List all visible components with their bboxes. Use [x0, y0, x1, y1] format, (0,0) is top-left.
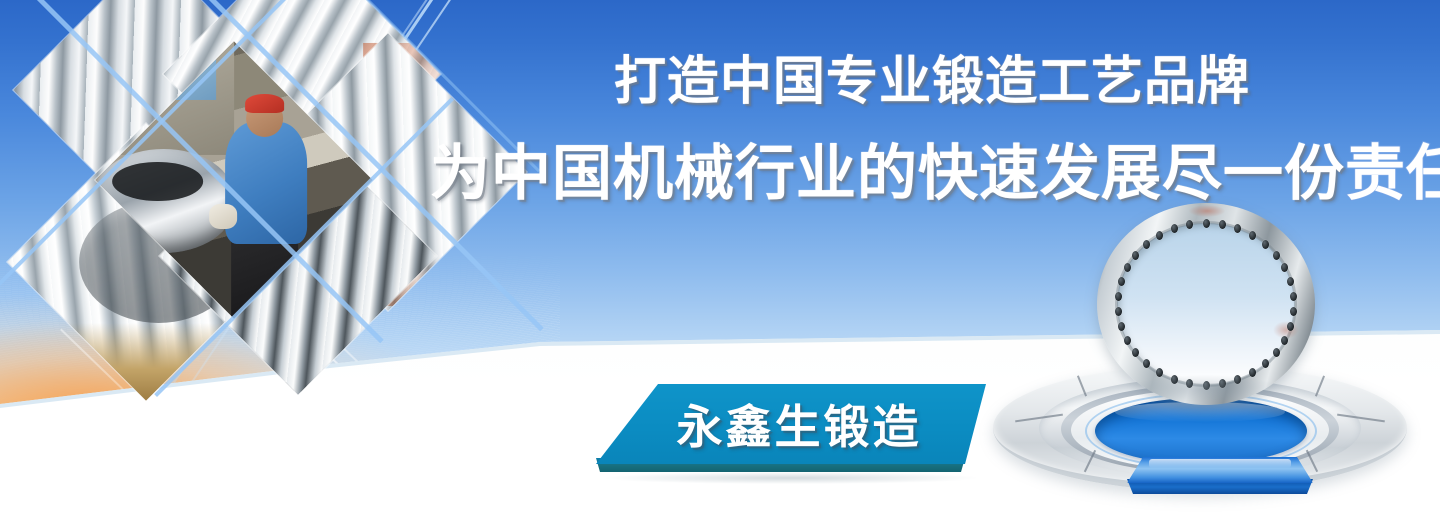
flange-bolt-hole [1262, 240, 1269, 249]
worker-cap [245, 94, 285, 112]
flange-bolt-hole [1124, 263, 1131, 272]
flange-bolt-hole [1143, 359, 1150, 368]
flange-bolt-hole [1219, 220, 1226, 229]
flange-bolt-hole [1281, 336, 1288, 345]
flange-bolt-hole [1290, 292, 1297, 301]
flange-bolt-hole [1115, 292, 1122, 301]
forged-flange-ring [1097, 203, 1315, 415]
flange-bolt-hole [1262, 359, 1269, 368]
flange-bolt-hole [1290, 307, 1297, 316]
nameplate-shadow [606, 472, 976, 484]
flange-bolt-hole [1234, 224, 1241, 233]
step-gloss-highlight [1149, 459, 1291, 468]
flange-bolt-hole [1171, 224, 1178, 233]
flange-bolt-hole [1203, 219, 1210, 228]
flange-bolt-hole [1118, 322, 1125, 331]
flange-bolt-hole [1143, 240, 1150, 249]
company-name-text: 永鑫生锻造 [596, 384, 986, 464]
flange-bolt-hole [1273, 251, 1280, 260]
flange-bolt-hole [1132, 251, 1139, 260]
flange-bolt-hole [1249, 231, 1256, 240]
flange-bolt-hole [1186, 220, 1193, 229]
flange-bolt-hole [1118, 277, 1125, 286]
flange-bolt-hole [1156, 231, 1163, 240]
company-nameplate: 永鑫生锻造 [596, 384, 986, 480]
flange-bolt-hole [1287, 322, 1294, 331]
flange-bolt-hole [1249, 368, 1256, 377]
flange-bolt-hole [1115, 307, 1122, 316]
diamond-photo-collage [8, 0, 438, 382]
flange-bolt-hole [1273, 348, 1280, 357]
flange-base-reflection [1131, 375, 1281, 403]
product-showcase [985, 205, 1415, 525]
hero-banner: 打造中国专业锻造工艺品牌 为中国机械行业的快速发展尽一份责任 永鑫生锻造 [0, 0, 1440, 525]
flange-bolt-hole [1156, 368, 1163, 377]
flange-bolt-hole [1124, 336, 1131, 345]
flange-bolt-hole [1281, 263, 1288, 272]
flange-bolt-hole [1132, 348, 1139, 357]
worker-glove [210, 204, 238, 228]
pedestal-front-step [1127, 457, 1313, 495]
flange-bolt-hole [1287, 277, 1294, 286]
